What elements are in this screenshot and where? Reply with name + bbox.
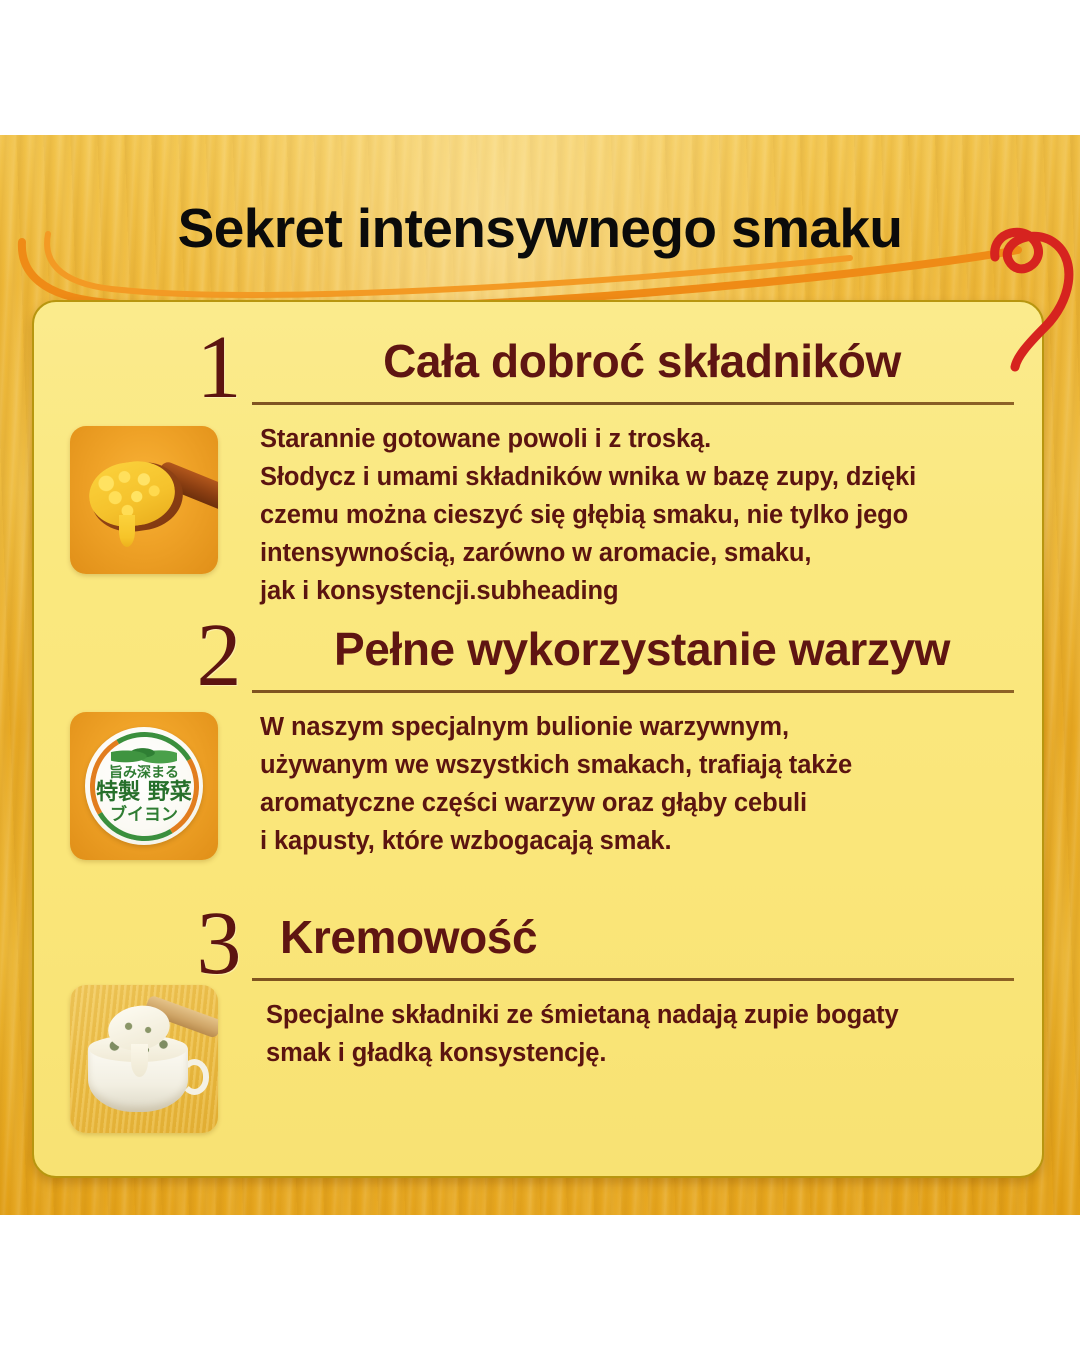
vegetable-bouillon-badge-thumbnail: 旨み深まる 特製 野菜 ブイヨン <box>70 712 218 860</box>
content-card: 1 Cała dobroć składników Starannie gotow… <box>32 300 1044 1178</box>
poster-root: Sekret intensywnego smaku 1 Cała dobroć … <box>0 0 1080 1350</box>
section-body: Starannie gotowane powoli i z troską. Sł… <box>260 420 1032 610</box>
spoon-corn-soup-thumbnail <box>70 426 218 574</box>
section-body: W naszym specjalnym bulionie warzywnym, … <box>260 708 1032 860</box>
badge-line-2: 特製 野菜 <box>94 782 193 804</box>
heading-divider <box>252 690 1014 693</box>
section-heading: Kremowość <box>252 908 1032 966</box>
page-title: Sekret intensywnego smaku <box>0 196 1080 260</box>
heading-divider <box>252 978 1014 981</box>
section-body: Specjalne składniki ze śmietaną nadają z… <box>266 996 1038 1072</box>
heading-divider <box>252 402 1014 405</box>
section-heading: Cała dobroć składników <box>252 332 1032 390</box>
soup-pour-icon <box>131 1044 149 1077</box>
badge-line-1: 旨み深まる <box>94 766 193 780</box>
bouillon-badge-icon: 旨み深まる 特製 野菜 ブイヨン <box>85 727 203 845</box>
creamy-soup-cup-thumbnail <box>70 985 218 1133</box>
section-heading: Pełne wykorzystanie warzyw <box>252 620 1032 678</box>
badge-line-3: ブイヨン <box>94 807 193 824</box>
badge-vegetables-icon <box>111 742 177 766</box>
